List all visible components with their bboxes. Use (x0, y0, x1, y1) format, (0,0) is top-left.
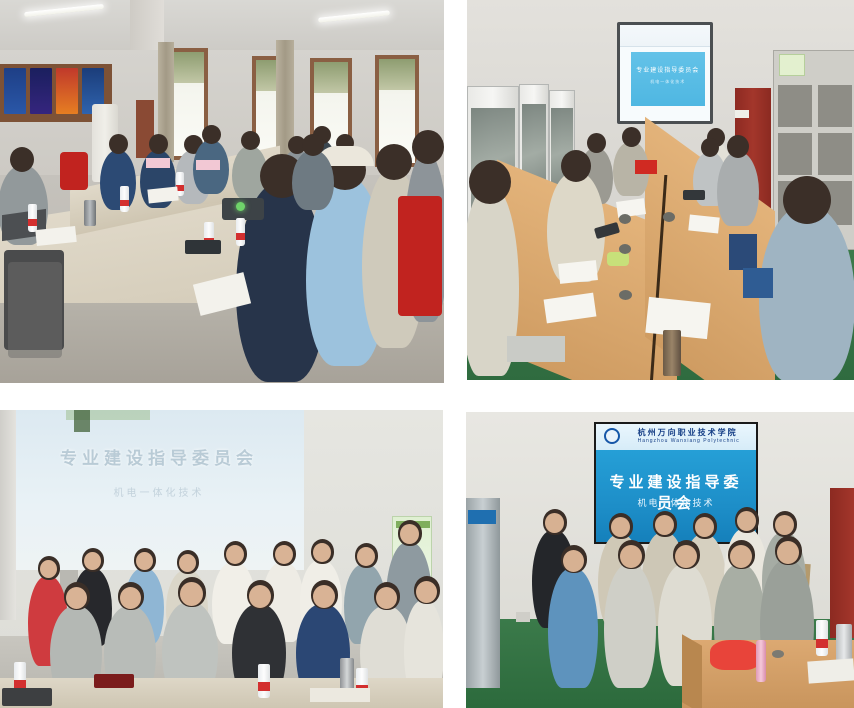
green-bag (607, 252, 629, 266)
water-bottle (816, 620, 828, 656)
thermos (663, 330, 681, 376)
projection-screen: 专业建设指导委员会 机电一体化技术 (14, 410, 304, 570)
photo-lab-meeting: 专业建设指导委员会 机电一体化技术 (467, 0, 854, 380)
person (717, 152, 759, 226)
mobile-phone (683, 190, 705, 200)
door (830, 488, 854, 638)
red-shopping-bag (710, 640, 760, 670)
thermos (84, 200, 96, 226)
slide-subtitle: 机电一体化技术 (635, 79, 700, 85)
equipment (2, 688, 52, 706)
school-logo-icon (604, 428, 620, 444)
table-grommet (619, 290, 632, 300)
table-grommet (663, 212, 675, 222)
door-sign (735, 110, 749, 118)
slide-body: 专业建设指导委员会 机电一体化技术 (631, 52, 705, 106)
slide-title: 专业建设指导委员会 (37, 444, 281, 469)
certificate-folder (94, 674, 134, 688)
water-bottle (258, 664, 270, 698)
chair (729, 234, 757, 270)
paper-document (310, 688, 370, 702)
paper-document (688, 214, 720, 233)
person (759, 206, 854, 380)
wall-socket (516, 612, 530, 622)
wall-edge (0, 410, 16, 620)
slide-subtitle: 机电一体化技术 (606, 496, 747, 509)
slide-title: 专业建设指导委员会 (635, 65, 700, 74)
projection-screen: 专业建设指导委员会 机电一体化技术 (617, 22, 713, 124)
chair (398, 196, 442, 316)
photo-group-blue-screen: 杭州万向职业技术学院 Hangzhou Wanxiang Polytechnic… (466, 412, 854, 708)
paper-document (807, 658, 854, 683)
slide-subtitle: 机电一体化技术 (37, 484, 281, 499)
table-foreground (0, 678, 443, 708)
table-grommet (619, 214, 631, 224)
lab-cabinet (466, 498, 500, 688)
wall-notice (779, 54, 805, 76)
poster (4, 68, 26, 114)
cabinet-label (468, 510, 496, 524)
group-projector-scene: 专业建设指导委员会 机电一体化技术 (0, 410, 443, 708)
poster (56, 68, 78, 114)
thermos (340, 658, 354, 692)
projector-lens (236, 202, 245, 211)
chair (60, 152, 88, 190)
lab-meeting-scene: 专业建设指导委员会 机电一体化技术 (467, 0, 854, 380)
person (292, 150, 334, 210)
slide-banner-cn: 杭州万向职业技术学院 (638, 427, 750, 438)
powerpoint-toolbar (620, 25, 710, 47)
photo-collage: 专业建设指导委员会 机电一体化技术 (0, 0, 854, 708)
pink-bottle (756, 640, 766, 682)
person (100, 150, 136, 210)
photo-meeting-wide (0, 0, 444, 383)
water-bottle (236, 218, 245, 246)
chair (743, 268, 773, 298)
flag-icon (635, 160, 657, 174)
slide-banner-en: Hangzhou Wanxiang Polytechnic (638, 438, 750, 444)
name-card (146, 158, 170, 168)
table-grommet (619, 244, 631, 254)
projected-slide: 专业建设指导委员会 机电一体化技术 (620, 25, 710, 121)
slide-banner: 杭州万向职业技术学院 Hangzhou Wanxiang Polytechnic (596, 424, 756, 450)
meeting-wide-scene (0, 0, 444, 383)
table-grommet (772, 650, 784, 658)
group-blue-screen-scene: 杭州万向职业技术学院 Hangzhou Wanxiang Polytechnic… (466, 412, 854, 708)
table-edge (682, 634, 702, 708)
photo-group-projector: 专业建设指导委员会 机电一体化技术 (0, 410, 443, 708)
paper-document (558, 260, 598, 284)
poster (30, 68, 52, 114)
water-bottle (28, 204, 37, 232)
keyboard (185, 240, 221, 254)
person (548, 568, 598, 688)
paper-document (507, 336, 565, 362)
slide-logo (74, 410, 90, 432)
chair (8, 262, 62, 358)
name-card (196, 160, 220, 170)
person (604, 564, 656, 688)
water-bottle (120, 186, 129, 212)
